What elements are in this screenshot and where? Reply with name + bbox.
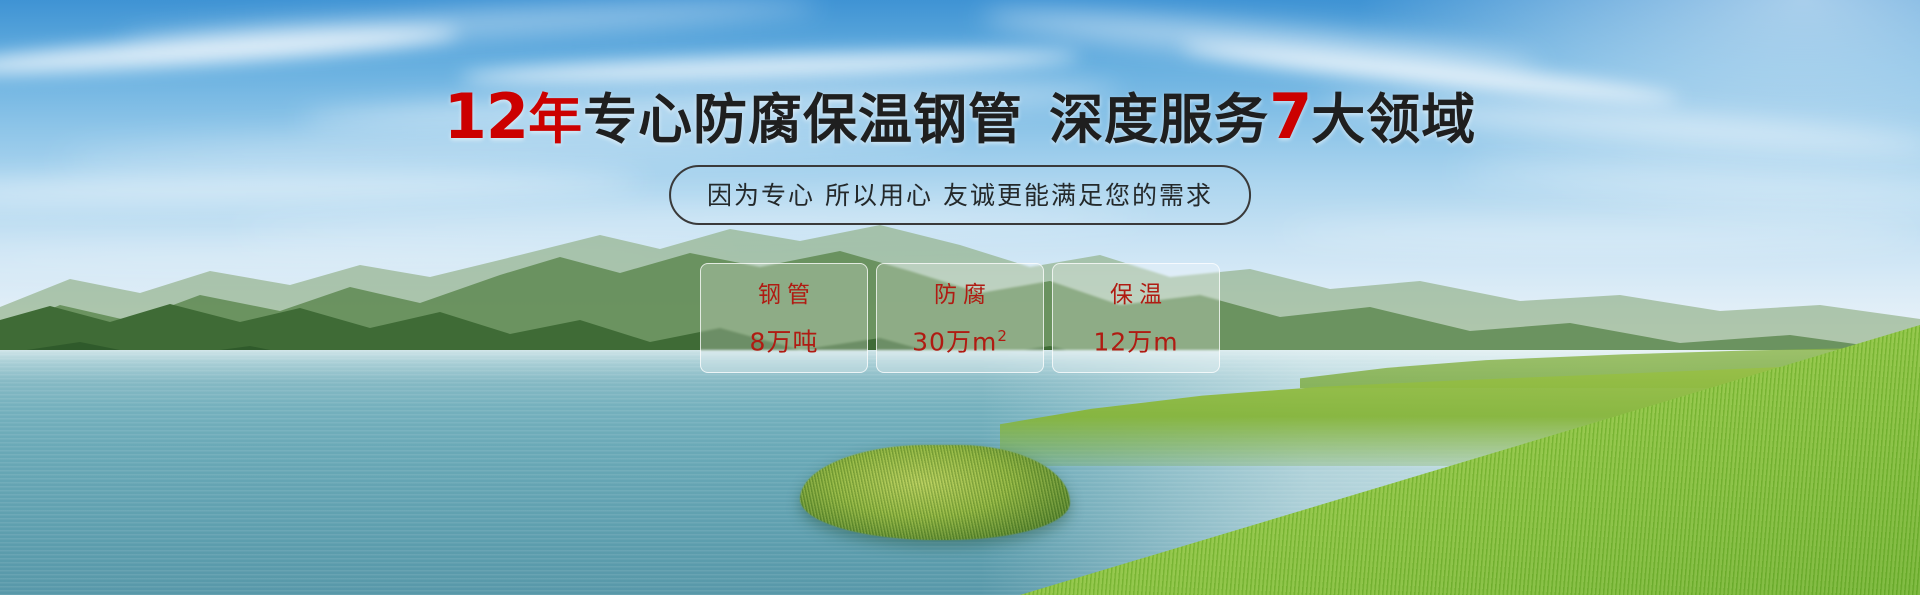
stat-card-title: 防腐 — [928, 284, 992, 307]
stat-card-title: 保温 — [1104, 284, 1168, 307]
stat-card[interactable]: 保温 12万m — [1052, 263, 1220, 373]
stat-cards: 钢管 8万吨 防腐 30万m2 保温 12万m — [700, 263, 1220, 373]
stat-card-value: 12万m — [1093, 329, 1178, 354]
grass-islet-texture — [800, 445, 1070, 540]
stat-card-value-text: 12万m — [1093, 327, 1178, 356]
headline-years-unit: 年 — [528, 88, 583, 151]
stat-card[interactable]: 防腐 30万m2 — [876, 263, 1044, 373]
cloud-streak — [1280, 220, 1920, 246]
stat-card-value: 30万m2 — [912, 329, 1008, 354]
headline-secondary-suffix: 大领域 — [1311, 88, 1476, 151]
headline-secondary-prefix: 深度服务 — [1049, 88, 1269, 151]
hero-banner: 12年专心防腐保温钢管深度服务7大领域 因为专心 所以用心 友诚更能满足您的需求… — [0, 0, 1920, 595]
stat-card-value: 8万吨 — [750, 329, 819, 354]
headline-fields-number: 7 — [1269, 80, 1311, 153]
headline-main-text: 专心防腐保温钢管 — [583, 88, 1023, 151]
subtitle-pill: 因为专心 所以用心 友诚更能满足您的需求 — [669, 165, 1251, 225]
stat-card-value-superscript: 2 — [997, 327, 1008, 345]
headline-years-number: 12 — [444, 80, 528, 153]
stat-card[interactable]: 钢管 8万吨 — [700, 263, 868, 373]
stat-card-title: 钢管 — [752, 284, 816, 307]
headline: 12年专心防腐保温钢管深度服务7大领域 — [0, 86, 1920, 148]
stat-card-value-text: 8万吨 — [750, 327, 819, 356]
stat-card-value-text: 30万m — [912, 327, 997, 356]
